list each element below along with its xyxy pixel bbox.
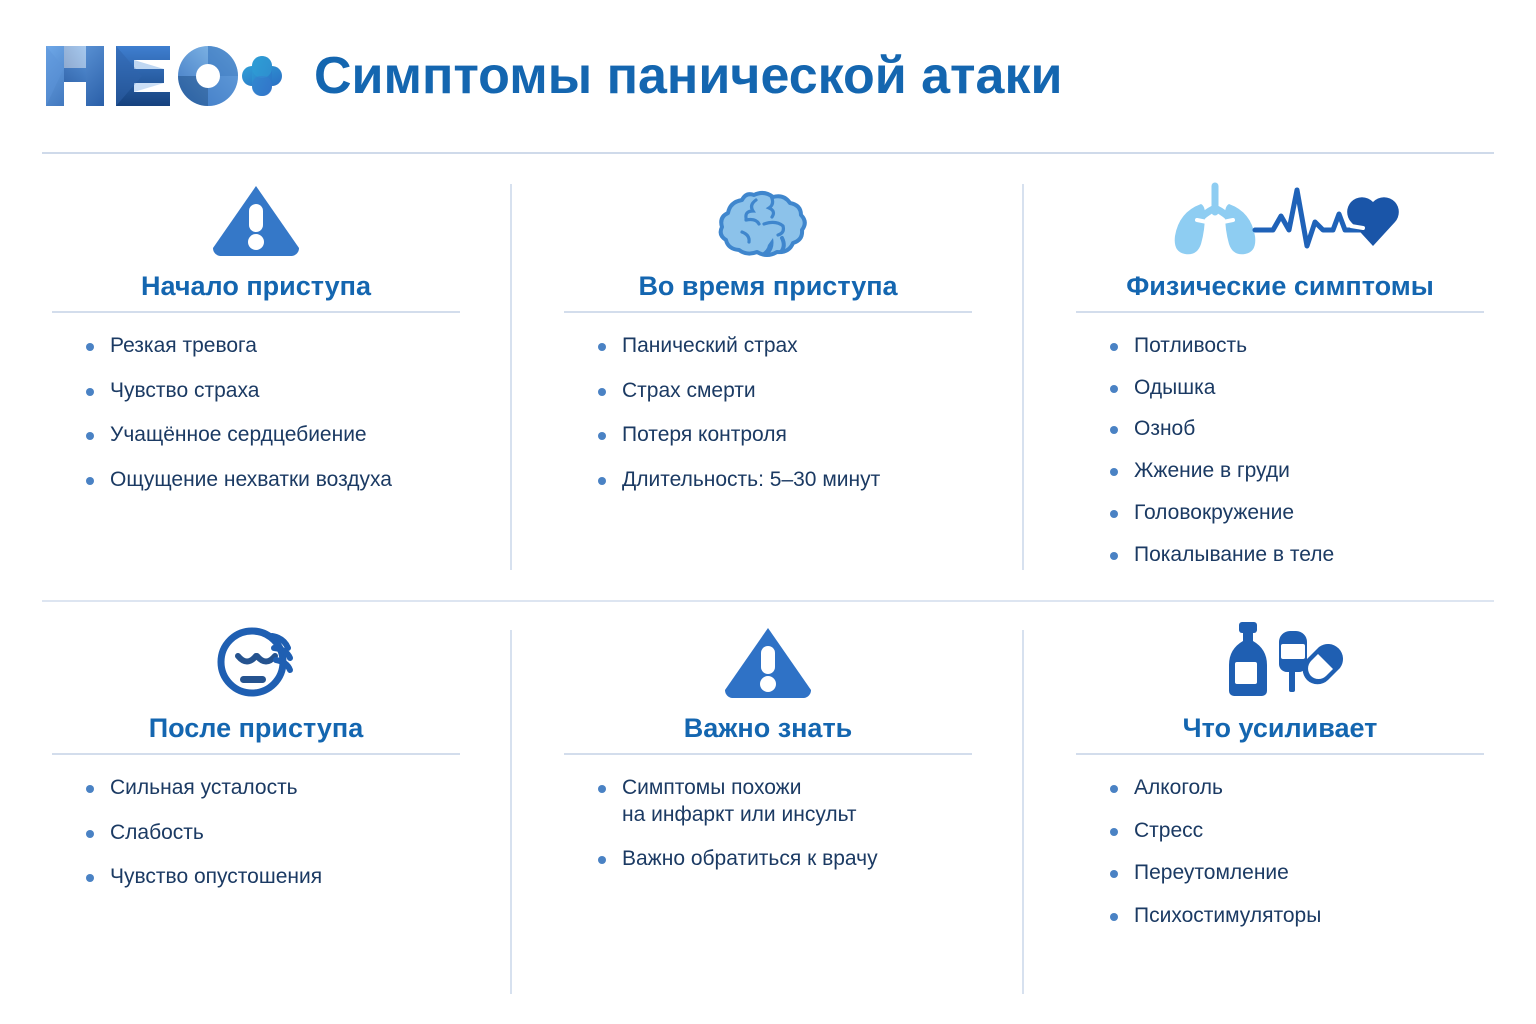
heading-underline (52, 753, 460, 755)
lungs-ecg-heart-icon (1076, 180, 1484, 258)
list-item: Панический страх (598, 333, 972, 360)
symptom-list: Резкая тревога Чувство страха Учащённое … (52, 333, 460, 495)
cards-grid: Начало приступа Резкая тревога Чувство с… (0, 154, 1536, 1024)
list-item: Потливость (1110, 333, 1484, 360)
symptom-list: Потливость Одышка Озноб Жжение в груди Г… (1076, 333, 1484, 569)
card-important-to-know: Важно знать Симптомы похожи на инфаркт и… (512, 600, 1024, 1024)
list-item: Сильная усталость (86, 775, 460, 802)
bottle-pills-icon (1076, 622, 1484, 700)
list-item: Симптомы похожи на инфаркт или инсульт (598, 775, 972, 829)
page-title: Симптомы панической атаки (314, 50, 1062, 102)
card-heading: Физические симптомы (1076, 272, 1484, 302)
card-after-attack: После приступа Сильная усталость Слабост… (0, 600, 512, 1024)
list-item: Потеря контроля (598, 422, 972, 449)
list-item: Стресс (1110, 818, 1484, 845)
row-divider (42, 600, 1494, 602)
list-item: Важно обратиться к врачу (598, 846, 972, 873)
heading-underline (564, 311, 972, 313)
list-item: Длительность: 5–30 минут (598, 467, 972, 494)
list-item: Покалывание в теле (1110, 542, 1484, 569)
list-item: Озноб (1110, 416, 1484, 443)
card-heading: Важно знать (564, 714, 972, 744)
list-item: Слабость (86, 820, 460, 847)
heading-underline (1076, 311, 1484, 313)
warning-triangle-icon (564, 622, 972, 700)
list-item: Учащённое сердцебиение (86, 422, 460, 449)
brain-icon (564, 180, 972, 258)
list-item-line2: на инфаркт или инсульт (622, 802, 972, 829)
card-heading: После приступа (52, 714, 460, 744)
warning-triangle-icon (52, 180, 460, 258)
card-heading: Во время приступа (564, 272, 972, 302)
symptom-list: Сильная усталость Слабость Чувство опуст… (52, 775, 460, 892)
list-item: Переутомление (1110, 860, 1484, 887)
list-item-line1: Симптомы похожи (622, 776, 801, 799)
list-item: Головокружение (1110, 500, 1484, 527)
card-physical-symptoms: Физические симптомы Потливость Одышка Оз… (1024, 154, 1536, 600)
list-item: Страх смерти (598, 378, 972, 405)
list-item: Жжение в груди (1110, 458, 1484, 485)
card-what-aggravates: Что усиливает Алкоголь Стресс Переутомле… (1024, 600, 1536, 1024)
card-heading: Что усиливает (1076, 714, 1484, 744)
card-attack-onset: Начало приступа Резкая тревога Чувство с… (0, 154, 512, 600)
tired-face-icon (52, 622, 460, 700)
heading-underline (1076, 753, 1484, 755)
neo-plus-logo (42, 38, 284, 114)
list-item: Психостимуляторы (1110, 903, 1484, 930)
symptom-list: Панический страх Страх смерти Потеря кон… (564, 333, 972, 495)
card-heading: Начало приступа (52, 272, 460, 302)
heading-underline (52, 311, 460, 313)
list-item: Резкая тревога (86, 333, 460, 360)
symptom-list: Алкоголь Стресс Переутомление Психостиму… (1076, 775, 1484, 931)
card-during-attack: Во время приступа Панический страх Страх… (512, 154, 1024, 600)
page-header: Симптомы панической атаки (0, 0, 1536, 152)
list-item: Чувство страха (86, 378, 460, 405)
list-item: Чувство опустошения (86, 864, 460, 891)
list-item: Алкоголь (1110, 775, 1484, 802)
list-item: Одышка (1110, 375, 1484, 402)
list-item: Ощущение нехватки воздуха (86, 467, 460, 494)
symptom-list: Симптомы похожи на инфаркт или инсульт В… (564, 775, 972, 874)
heading-underline (564, 753, 972, 755)
